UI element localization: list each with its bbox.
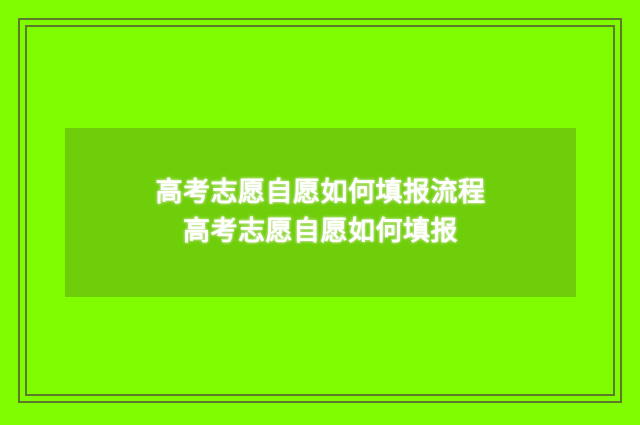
banner-image: 高考志愿自愿如何填报流程 高考志愿自愿如何填报	[0, 0, 640, 425]
title-line-primary: 高考志愿自愿如何填报流程	[65, 174, 576, 212]
title-block: 高考志愿自愿如何填报流程 高考志愿自愿如何填报	[65, 174, 576, 251]
title-plate: 高考志愿自愿如何填报流程 高考志愿自愿如何填报	[65, 128, 576, 297]
title-line-secondary: 高考志愿自愿如何填报	[65, 213, 576, 251]
